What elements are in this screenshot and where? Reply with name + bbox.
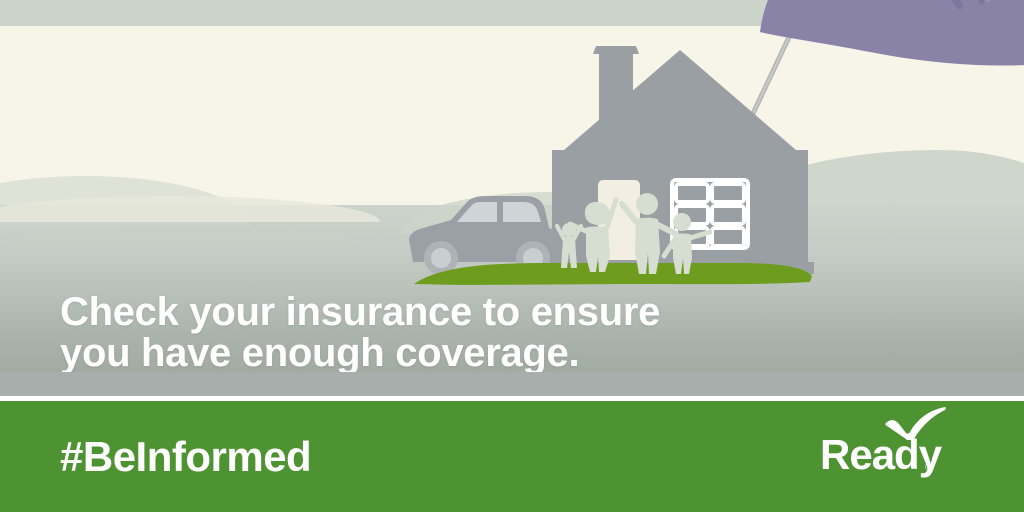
ready-wordmark: Ready [820,432,941,478]
registered-mark: ® [925,462,932,472]
family-figures [552,182,722,282]
headline-text: Check your insurance to ensure you have … [60,292,740,374]
ready-logo[interactable]: Ready ® [812,406,962,488]
hashtag-label: #BeInformed [60,432,311,482]
footer-divider-gray [0,372,1024,396]
ready-psa-graphic: Check your insurance to ensure you have … [0,0,1024,512]
figure-adult-center [622,193,676,274]
figure-adult-right [664,213,710,274]
